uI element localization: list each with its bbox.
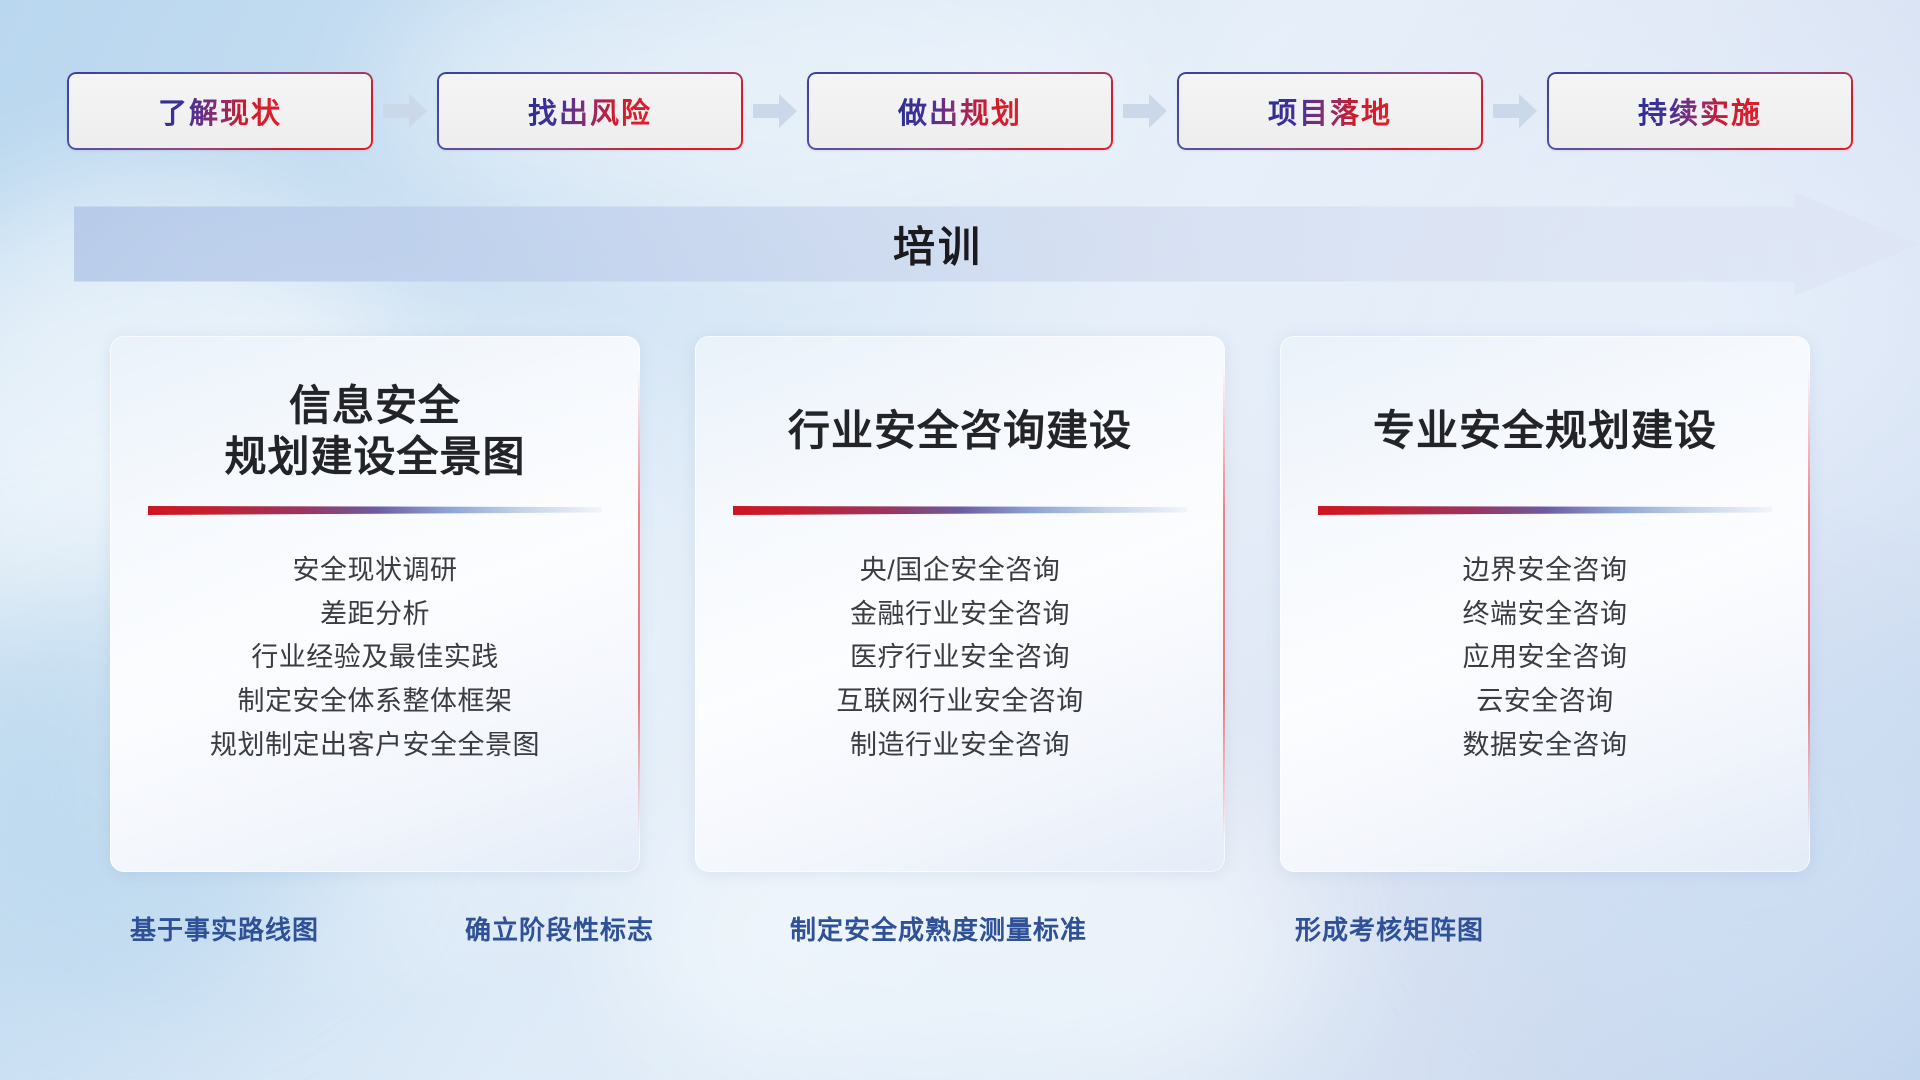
card-group: 信息安全 规划建设全景图 安全现状调研 差距分析 行业经验及最佳实践 制定安全体… [110, 336, 1810, 872]
card-title: 行业安全咨询建设 [788, 405, 1132, 456]
card-divider [1318, 506, 1772, 515]
step-box-1[interactable]: 了解现状 [67, 72, 373, 150]
list-item: 规划制定出客户安全全景图 [110, 724, 640, 768]
card-title: 信息安全 规划建设全景图 [224, 380, 525, 482]
list-item: 制定安全体系整体框架 [110, 680, 640, 724]
list-item: 数据安全咨询 [1280, 724, 1810, 768]
training-band: 培训 [74, 192, 1920, 296]
slide-canvas: 了解现状 找出风险 做出规划 项目落地 [0, 0, 1920, 1080]
card-divider [148, 506, 602, 515]
card-title: 专业安全规划建设 [1373, 405, 1717, 456]
arrow-right-icon [373, 72, 437, 150]
step-box-3[interactable]: 做出规划 [807, 72, 1113, 150]
footnote-label: 基于事实路线图 [130, 910, 319, 947]
list-item: 终端安全咨询 [1280, 593, 1810, 637]
list-item: 医疗行业安全咨询 [695, 636, 1225, 680]
list-item: 制造行业安全咨询 [695, 724, 1225, 768]
footnote-label: 确立阶段性标志 [465, 910, 654, 947]
process-step-flow: 了解现状 找出风险 做出规划 项目落地 [0, 72, 1920, 150]
list-item: 金融行业安全咨询 [695, 593, 1225, 637]
list-item: 安全现状调研 [110, 549, 640, 593]
card-professional-security-planning[interactable]: 专业安全规划建设 边界安全咨询 终端安全咨询 应用安全咨询 云安全咨询 数据安全… [1280, 336, 1810, 872]
step-box-4[interactable]: 项目落地 [1177, 72, 1483, 150]
step-box-5[interactable]: 持续实施 [1547, 72, 1853, 150]
band-title: 培训 [74, 214, 1920, 275]
footnote-label: 形成考核矩阵图 [1295, 910, 1484, 947]
list-item: 边界安全咨询 [1280, 549, 1810, 593]
card-industry-security-consulting[interactable]: 行业安全咨询建设 央/国企安全咨询 金融行业安全咨询 医疗行业安全咨询 互联网行… [695, 336, 1225, 872]
card-header: 行业安全咨询建设 [695, 336, 1225, 484]
card-item-list: 安全现状调研 差距分析 行业经验及最佳实践 制定安全体系整体框架 规划制定出客户… [110, 549, 640, 768]
card-header: 专业安全规划建设 [1280, 336, 1810, 484]
footnote-row: 基于事实路线图 确立阶段性标志 制定安全成熟度测量标准 形成考核矩阵图 [0, 910, 1920, 956]
list-item: 央/国企安全咨询 [695, 549, 1225, 593]
list-item: 差距分析 [110, 593, 640, 637]
card-info-security-panorama[interactable]: 信息安全 规划建设全景图 安全现状调研 差距分析 行业经验及最佳实践 制定安全体… [110, 336, 640, 872]
step-label: 项目落地 [1268, 90, 1392, 132]
arrow-right-icon [743, 72, 807, 150]
step-label: 做出规划 [898, 90, 1022, 132]
step-label: 找出风险 [528, 90, 652, 132]
list-item: 行业经验及最佳实践 [110, 636, 640, 680]
arrow-right-icon [1483, 72, 1547, 150]
footnote-label: 制定安全成熟度测量标准 [790, 910, 1087, 947]
list-item: 应用安全咨询 [1280, 636, 1810, 680]
step-box-2[interactable]: 找出风险 [437, 72, 743, 150]
card-item-list: 央/国企安全咨询 金融行业安全咨询 医疗行业安全咨询 互联网行业安全咨询 制造行… [695, 549, 1225, 768]
step-label: 了解现状 [158, 90, 282, 132]
arrow-right-icon [1113, 72, 1177, 150]
card-item-list: 边界安全咨询 终端安全咨询 应用安全咨询 云安全咨询 数据安全咨询 [1280, 549, 1810, 768]
card-header: 信息安全 规划建设全景图 [110, 336, 640, 484]
list-item: 云安全咨询 [1280, 680, 1810, 724]
step-label: 持续实施 [1638, 90, 1762, 132]
card-divider [733, 506, 1187, 515]
list-item: 互联网行业安全咨询 [695, 680, 1225, 724]
